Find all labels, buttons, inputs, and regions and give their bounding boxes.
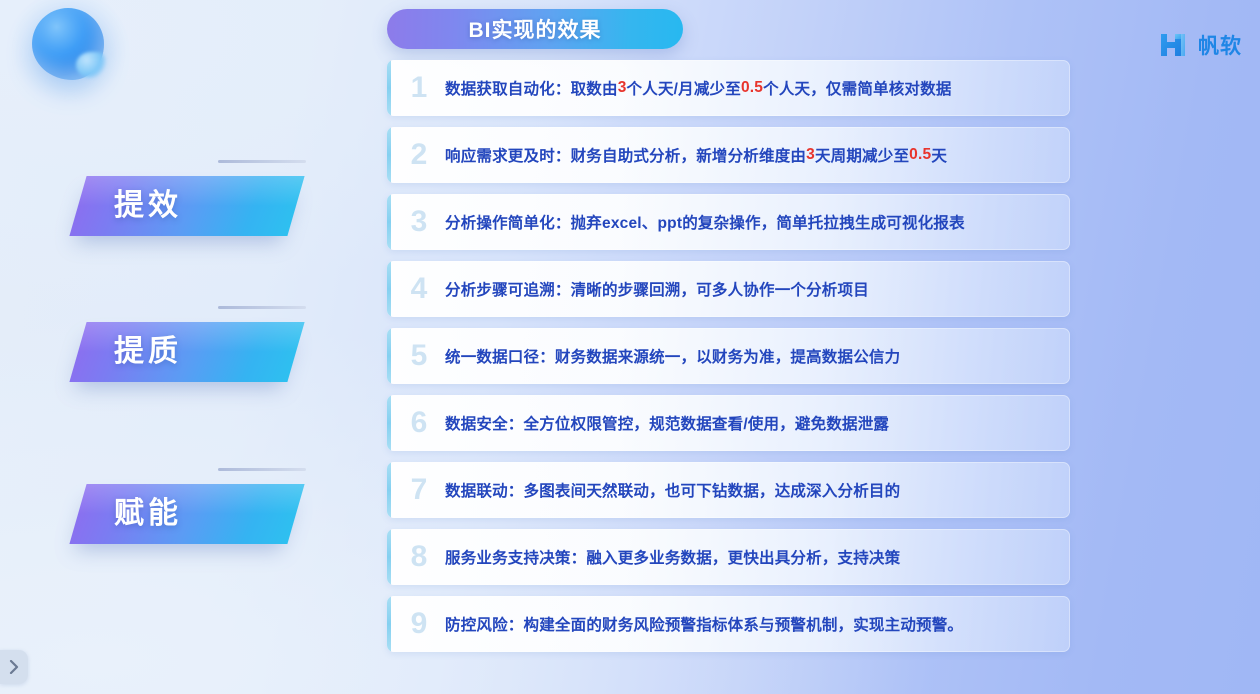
card-body-text: 多图表间天然联动，也可下钻数据，达成深入分析目的	[524, 479, 901, 501]
effects-list: 1数据获取自动化：取数由3个人天/月减少至0.5个人天，仅需简单核对数据2响应需…	[387, 60, 1070, 663]
effect-card[interactable]: 8服务业务支持决策：融入更多业务数据，更快出具分析，支持决策	[387, 529, 1070, 585]
card-heading: 数据安全：	[445, 412, 524, 434]
card-accent-bar	[387, 596, 391, 652]
fanruan-logo-icon	[1159, 31, 1189, 59]
panel-toggle-button[interactable]	[0, 650, 28, 684]
brand-wordmark: 帆软	[1198, 30, 1242, 60]
category-label-text: 赋能	[114, 493, 304, 535]
card-body-text: 个人天/月减少至	[627, 77, 741, 99]
effect-card[interactable]: 2响应需求更及时：财务自助式分析，新增分析维度由3天周期减少至0.5天	[387, 127, 1070, 183]
card-number: 1	[399, 71, 439, 105]
category-label-quality: 提质	[78, 322, 328, 388]
card-text: 统一数据口径：财务数据来源统一，以财务为准，提高数据公信力	[445, 328, 1056, 384]
card-heading: 统一数据口径：	[445, 345, 555, 367]
category-tick-line	[218, 160, 306, 163]
effect-card[interactable]: 9防控风险：构建全面的财务风险预警指标体系与预警机制，实现主动预警。	[387, 596, 1070, 652]
card-accent-bar	[387, 529, 391, 585]
card-accent-bar	[387, 261, 391, 317]
card-number: 9	[399, 607, 439, 641]
card-text: 分析步骤可追溯：清晰的步骤回溯，可多人协作一个分析项目	[445, 261, 1056, 317]
card-body-text: 融入更多业务数据，更快出具分析，支持决策	[586, 546, 900, 568]
card-heading: 分析步骤可追溯：	[445, 278, 571, 300]
card-number: 5	[399, 339, 439, 373]
card-accent-bar	[387, 194, 391, 250]
card-text: 防控风险：构建全面的财务风险预警指标体系与预警机制，实现主动预警。	[445, 596, 1056, 652]
effect-card[interactable]: 6数据安全：全方位权限管控，规范数据查看/使用，避免数据泄露	[387, 395, 1070, 451]
card-accent-bar	[387, 462, 391, 518]
card-body-text: 清晰的步骤回溯，可多人协作一个分析项目	[571, 278, 869, 300]
card-accent-bar	[387, 60, 391, 116]
card-highlight-value: 0.5	[909, 146, 931, 164]
chevron-right-icon	[9, 660, 19, 674]
card-number: 3	[399, 205, 439, 239]
category-label-efficiency: 提效	[78, 176, 328, 242]
card-number: 8	[399, 540, 439, 574]
card-highlight-value: 0.5	[741, 79, 763, 97]
card-body-text: 抛弃excel、ppt的复杂操作，简单托拉拽生成可视化报表	[571, 211, 965, 233]
card-text: 数据安全：全方位权限管控，规范数据查看/使用，避免数据泄露	[445, 395, 1056, 451]
card-accent-bar	[387, 328, 391, 384]
card-body-text: 天周期减少至	[815, 144, 909, 166]
card-body-text: 构建全面的财务风险预警指标体系与预警机制，实现主动预警。	[524, 613, 964, 635]
category-label-text: 提质	[114, 331, 304, 373]
card-number: 2	[399, 138, 439, 172]
card-text: 数据联动：多图表间天然联动，也可下钻数据，达成深入分析目的	[445, 462, 1056, 518]
card-number: 7	[399, 473, 439, 507]
card-body-text: 取数由	[571, 77, 618, 99]
card-highlight-value: 3	[618, 79, 627, 97]
card-heading: 响应需求更及时：	[445, 144, 571, 166]
page-title: BI实现的效果	[469, 14, 602, 44]
category-tick-line	[218, 468, 306, 471]
card-text: 数据获取自动化：取数由3个人天/月减少至0.5个人天，仅需简单核对数据	[445, 60, 1056, 116]
effect-card[interactable]: 4分析步骤可追溯：清晰的步骤回溯，可多人协作一个分析项目	[387, 261, 1070, 317]
card-body-text: 个人天，仅需简单核对数据	[763, 77, 951, 99]
card-heading: 数据联动：	[445, 479, 524, 501]
category-label-empowerment: 赋能	[78, 484, 328, 550]
card-body-text: 财务自助式分析，新增分析维度由	[571, 144, 807, 166]
effect-card[interactable]: 1数据获取自动化：取数由3个人天/月减少至0.5个人天，仅需简单核对数据	[387, 60, 1070, 116]
card-number: 4	[399, 272, 439, 306]
card-number: 6	[399, 406, 439, 440]
brand-logo: 帆软	[1159, 30, 1242, 60]
card-highlight-value: 3	[806, 146, 815, 164]
card-body-text: 全方位权限管控，规范数据查看/使用，避免数据泄露	[524, 412, 890, 434]
card-text: 分析操作简单化：抛弃excel、ppt的复杂操作，简单托拉拽生成可视化报表	[445, 194, 1056, 250]
category-tick-line	[218, 306, 306, 309]
category-label-text: 提效	[114, 185, 304, 227]
card-text: 响应需求更及时：财务自助式分析，新增分析维度由3天周期减少至0.5天	[445, 127, 1056, 183]
card-heading: 服务业务支持决策：	[445, 546, 586, 568]
card-heading: 分析操作简单化：	[445, 211, 571, 233]
card-body-text: 财务数据来源统一，以财务为准，提高数据公信力	[555, 345, 900, 367]
card-body-text: 天	[931, 144, 947, 166]
card-heading: 数据获取自动化：	[445, 77, 571, 99]
category-column: 提效 提质 赋能	[0, 0, 340, 694]
effect-card[interactable]: 3分析操作简单化：抛弃excel、ppt的复杂操作，简单托拉拽生成可视化报表	[387, 194, 1070, 250]
effect-card[interactable]: 5统一数据口径：财务数据来源统一，以财务为准，提高数据公信力	[387, 328, 1070, 384]
card-heading: 防控风险：	[445, 613, 524, 635]
card-text: 服务业务支持决策：融入更多业务数据，更快出具分析，支持决策	[445, 529, 1056, 585]
effect-card[interactable]: 7数据联动：多图表间天然联动，也可下钻数据，达成深入分析目的	[387, 462, 1070, 518]
card-accent-bar	[387, 127, 391, 183]
slide-title-pill: BI实现的效果	[387, 9, 683, 49]
card-accent-bar	[387, 395, 391, 451]
